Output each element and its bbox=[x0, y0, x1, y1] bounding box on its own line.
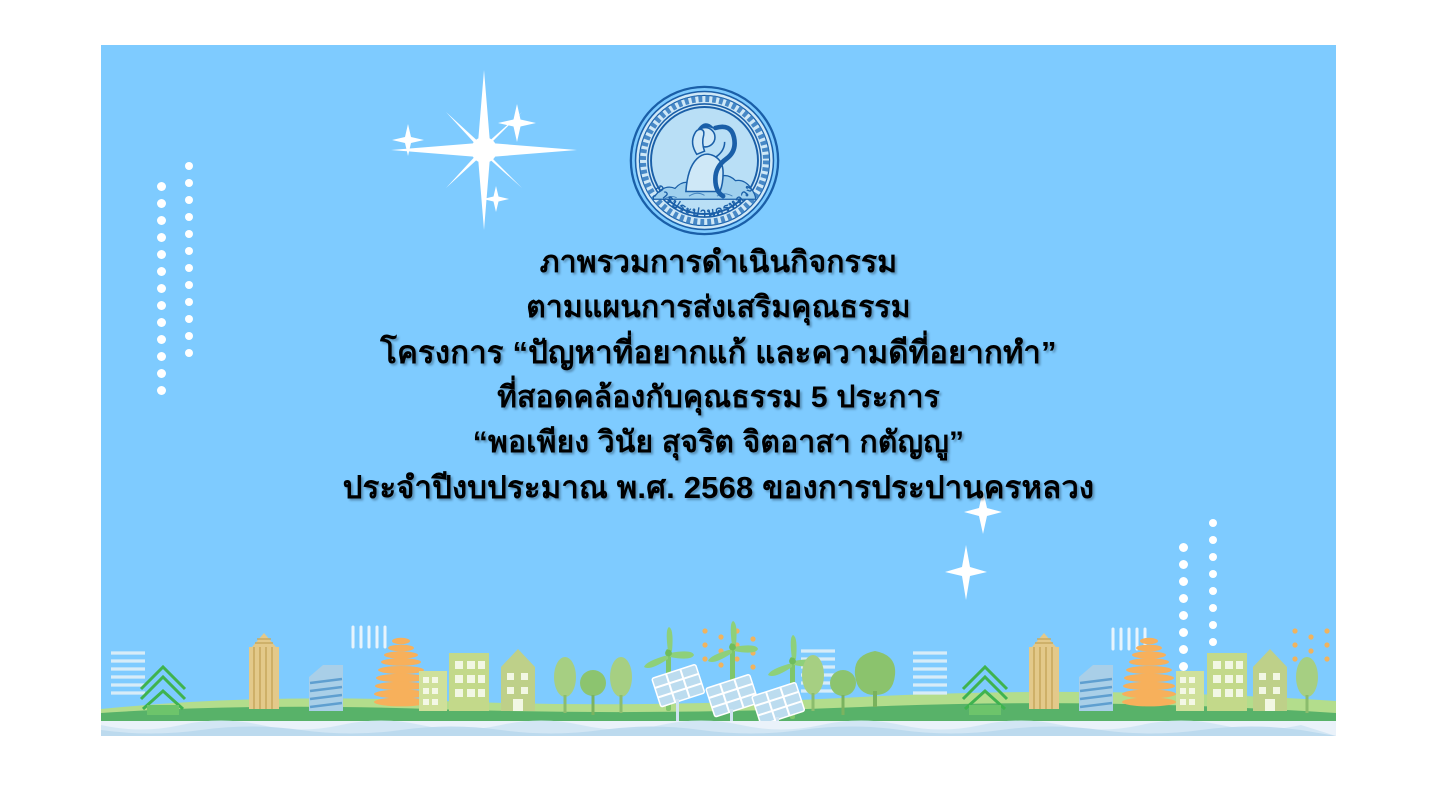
four-point-sparkle-icon bbox=[482, 185, 510, 213]
decor-dot bbox=[1209, 604, 1217, 612]
title-line-1: ภาพรวมการดำเนินกิจกรรม bbox=[101, 240, 1336, 285]
decor-dot bbox=[1209, 536, 1217, 544]
decor-dot bbox=[1179, 560, 1188, 569]
decor-dot bbox=[1209, 587, 1217, 595]
decor-dot bbox=[1179, 611, 1188, 620]
slide-title-block: ภาพรวมการดำเนินกิจกรรม ตามแผนการส่งเสริม… bbox=[101, 240, 1336, 510]
eight-point-sparkle-icon bbox=[389, 65, 579, 235]
title-line-3: โครงการ “ปัญหาที่อยากแก้ และความดีที่อยา… bbox=[101, 330, 1336, 375]
title-line-6: ประจำปีงบประมาณ พ.ศ. 2568 ของการประปานคร… bbox=[101, 465, 1336, 510]
eco-city-illustration bbox=[101, 621, 1336, 736]
decor-dot bbox=[157, 182, 166, 191]
decor-dot bbox=[185, 162, 193, 170]
decor-dot bbox=[1209, 519, 1217, 527]
slide-canvas: การประปานครหลวง ภาพรวมการดำเนินกิจกรรม ต… bbox=[101, 45, 1336, 736]
decor-dot bbox=[1179, 594, 1188, 603]
four-point-sparkle-icon bbox=[944, 545, 988, 601]
decor-dot bbox=[185, 213, 193, 221]
title-line-5: “พอเพียง วินัย สุจริต จิตอาสา กตัญญู” bbox=[101, 420, 1336, 465]
title-line-4: ที่สอดคล้องกับคุณธรรม 5 ประการ bbox=[101, 375, 1336, 420]
mwa-logo: การประปานครหลวง bbox=[627, 83, 782, 238]
decor-dot bbox=[1179, 577, 1188, 586]
decor-dot bbox=[1209, 570, 1217, 578]
decor-dot bbox=[1209, 553, 1217, 561]
decor-dot bbox=[1179, 543, 1188, 552]
title-line-2: ตามแผนการส่งเสริมคุณธรรม bbox=[101, 285, 1336, 330]
four-point-sparkle-icon bbox=[391, 123, 425, 157]
decor-dot bbox=[185, 179, 193, 187]
four-point-sparkle-icon bbox=[497, 103, 537, 143]
decor-dot bbox=[157, 216, 166, 225]
decor-dot bbox=[185, 230, 193, 238]
decor-dot bbox=[185, 196, 193, 204]
decor-dot bbox=[157, 199, 166, 208]
